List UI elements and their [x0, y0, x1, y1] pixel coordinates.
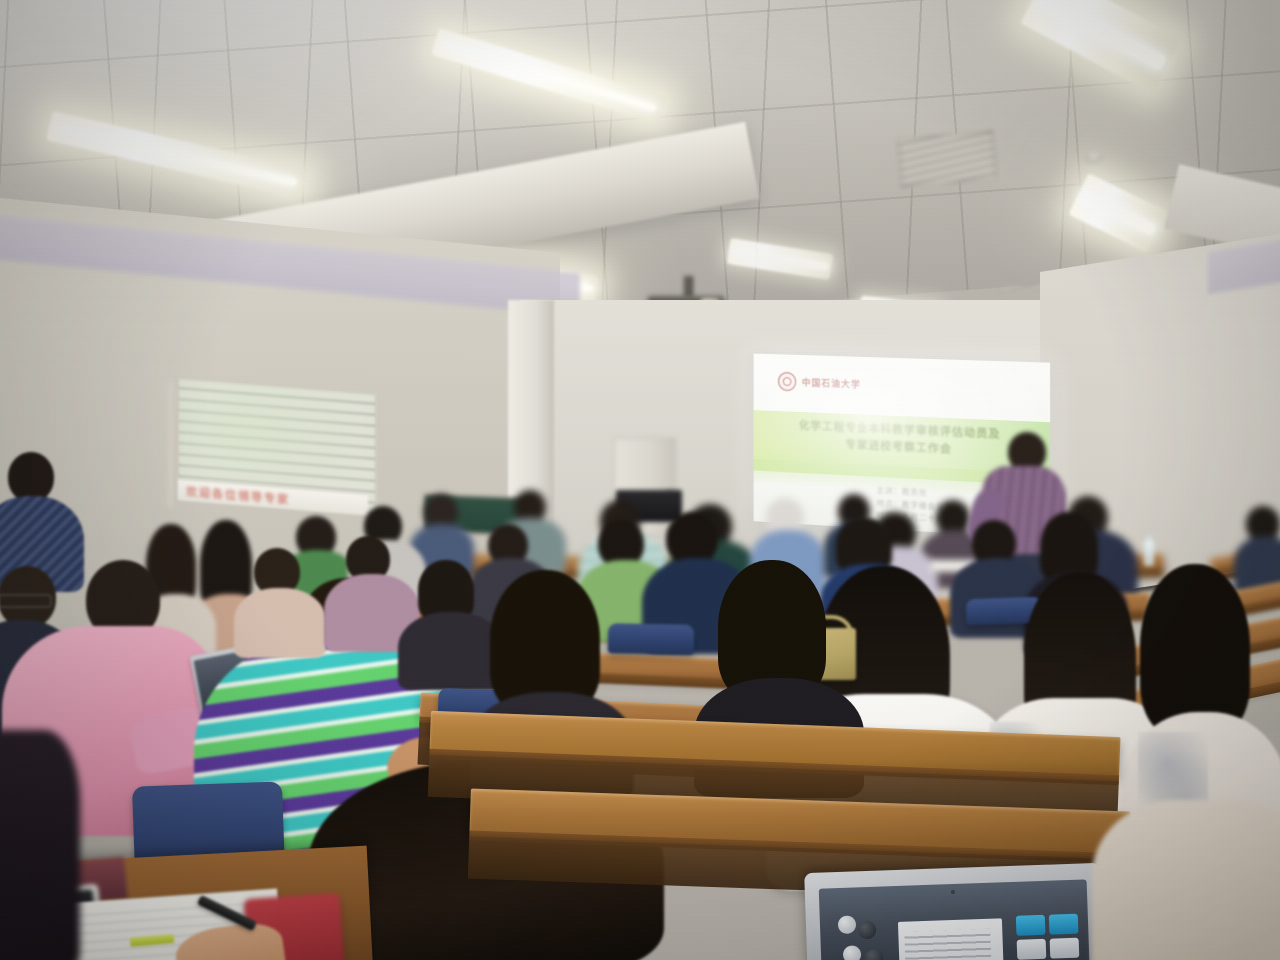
window-frame	[168, 382, 173, 506]
app-icon-4	[1050, 938, 1080, 959]
app-icon-2	[1049, 914, 1079, 935]
projector-mount-pole	[684, 276, 693, 298]
air-vent-icon	[896, 130, 998, 188]
webcam-icon	[951, 890, 955, 894]
app-icon-1	[1016, 915, 1046, 936]
classroom-photo: 欢迎各位领导专家 中国石油大学 化学工程专业本科教学审核评估动员及 专家进校考察…	[0, 0, 1280, 960]
macbook-screen	[819, 879, 1090, 960]
screen-app-icons	[1016, 914, 1079, 960]
app-icon-3	[1017, 939, 1047, 960]
university-logo: 中国石油大学	[778, 372, 861, 394]
screen-window	[898, 918, 1004, 960]
macbook-laptop[interactable]	[804, 863, 1104, 960]
screen-knob-graphics	[836, 914, 892, 960]
chair-row-3-b[interactable]	[608, 623, 695, 654]
university-emblem-icon	[778, 372, 796, 391]
university-logo-text: 中国石油大学	[802, 376, 861, 391]
water-bottle-2	[1144, 540, 1154, 566]
lamp-tube	[731, 248, 829, 270]
screen-window-text-lines	[904, 929, 991, 960]
